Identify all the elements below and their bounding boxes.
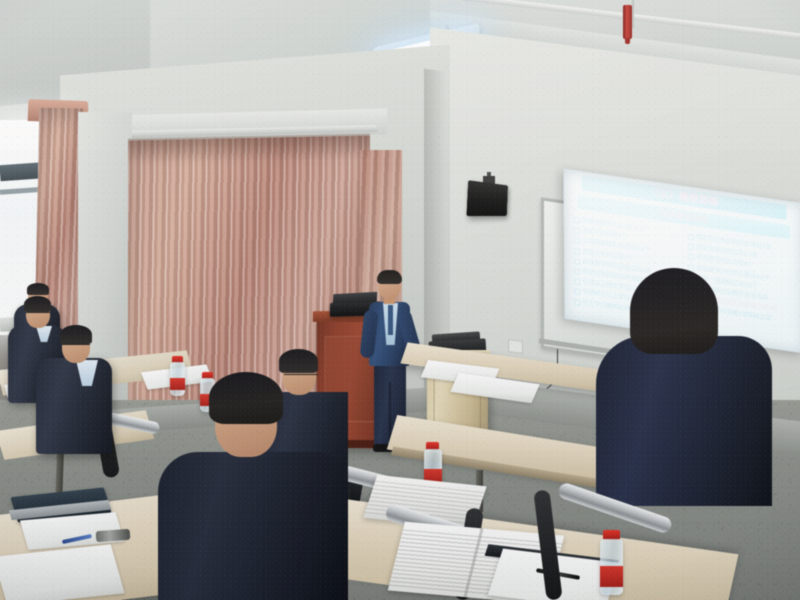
- checkbox-icon: [688, 244, 694, 251]
- keyring-icon: [96, 529, 131, 542]
- audience-hair: [24, 296, 51, 312]
- audience-member: [596, 336, 772, 506]
- audience-hair: [27, 283, 49, 295]
- checkbox-icon: [574, 299, 580, 306]
- sprinkler-head-icon: [623, 5, 632, 39]
- glasses-icon: [284, 374, 318, 381]
- presenter-tie: [388, 305, 393, 335]
- audience-hair: [209, 372, 283, 424]
- checkbox-icon: [574, 278, 580, 285]
- glasses-icon: [26, 312, 50, 317]
- bottle-label: [170, 378, 185, 390]
- bottle-label: [600, 566, 623, 587]
- audience-member: [36, 358, 112, 454]
- checkbox-icon: [574, 248, 580, 255]
- glasses-icon: [62, 344, 90, 350]
- wall-speaker-icon: [466, 180, 507, 216]
- checkbox-icon: [688, 254, 694, 261]
- checkbox-icon: [574, 288, 580, 295]
- checkbox-icon: [574, 258, 580, 265]
- audience-hair: [630, 268, 718, 354]
- checkbox-icon: [574, 237, 580, 244]
- checkbox-icon: [574, 217, 580, 224]
- audience-member-foreground: [158, 452, 348, 600]
- checkbox-icon: [574, 268, 580, 275]
- checkbox-icon: [688, 234, 694, 241]
- curtain-top-fold: [128, 133, 370, 164]
- audience-hair: [279, 349, 318, 373]
- checkbox-icon: [574, 227, 580, 234]
- audience-hair: [60, 325, 92, 344]
- presenter-glasses-icon: [378, 282, 401, 288]
- meeting-room-photo: （三）建设目标 总体建设目标 国家级教学人员1项以上省级学科培育2个立项国家级实…: [0, 0, 800, 600]
